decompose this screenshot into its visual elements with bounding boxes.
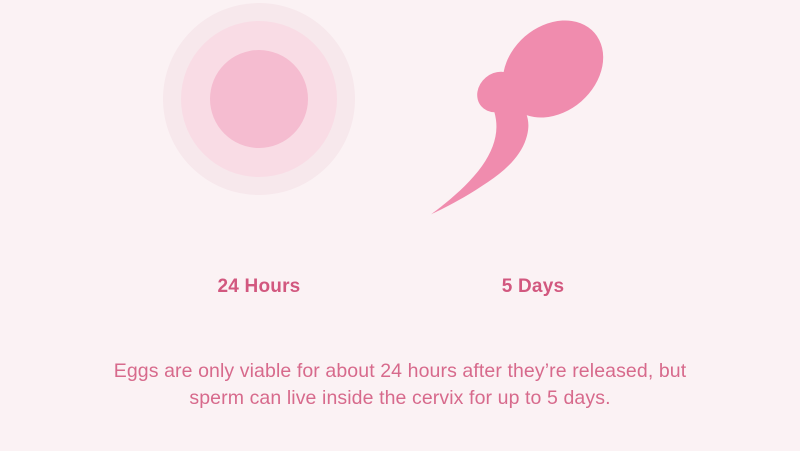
sperm-cell-icon (368, 0, 698, 250)
caption-line-1: Eggs are only viable for about 24 hours … (50, 358, 750, 385)
caption: Eggs are only viable for about 24 hours … (50, 358, 750, 412)
illustration-row: 24 Hours 5 Days (0, 0, 800, 320)
fertility-window-infographic: 24 Hours 5 Days Eggs are only (0, 0, 800, 451)
sperm-figure: 5 Days (368, 0, 698, 320)
caption-line-2: sperm can live inside the cervix for up … (50, 385, 750, 412)
sperm-duration-label: 5 Days (368, 276, 698, 298)
